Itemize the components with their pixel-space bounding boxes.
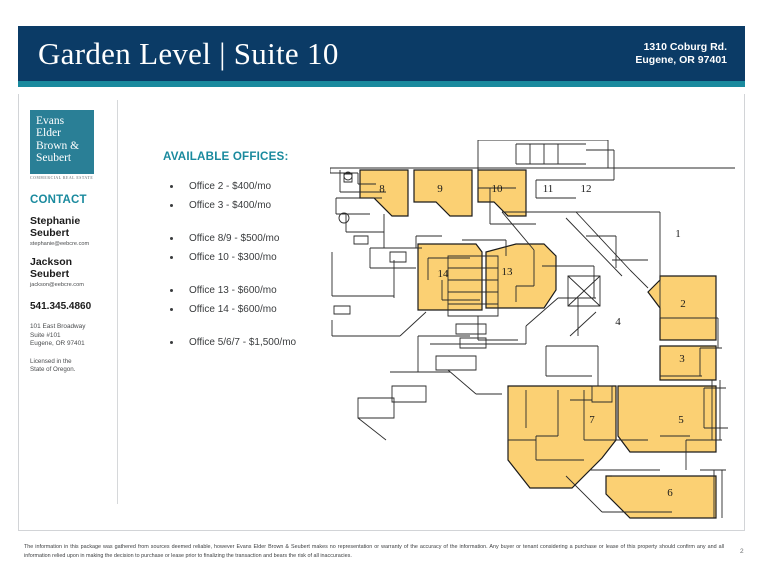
- header-accent-bar: [18, 81, 745, 87]
- room-label-1: 1: [675, 228, 681, 240]
- office-address-line2: Suite #101: [30, 332, 114, 341]
- contact-name-stephanie-line1: Stephanie: [30, 215, 114, 227]
- logo-line-2: Elder: [36, 127, 94, 139]
- floor-plan-svg: 8910111211413243576: [330, 140, 735, 525]
- property-address: 1310 Coburg Rd. Eugene, OR 97401: [635, 41, 743, 67]
- room-label-13: 13: [502, 266, 514, 278]
- room-label-12: 12: [581, 183, 592, 195]
- floor-plan-room-13[interactable]: [486, 244, 556, 308]
- footer-disclaimer: The information in this package was gath…: [24, 543, 724, 562]
- logo-line-4: Seubert: [36, 152, 94, 164]
- office-address: 101 East Broadway Suite #101 Eugene, OR …: [30, 323, 114, 349]
- room-label-14: 14: [438, 268, 450, 280]
- contact-email-jackson[interactable]: jackson@eebcre.com: [30, 282, 114, 288]
- logo-line-3: Brown &: [36, 140, 94, 152]
- office-group: Office 5/6/7 - $1,500/mo: [163, 333, 333, 352]
- contact-phone[interactable]: 541.345.4860: [30, 301, 114, 312]
- contact-heading: CONTACT: [30, 194, 114, 206]
- room-label-4: 4: [615, 316, 621, 328]
- logo-line-1: Evans: [36, 115, 94, 127]
- office-list-item: Office 5/6/7 - $1,500/mo: [163, 333, 333, 352]
- floor-plan-room-9[interactable]: [414, 170, 472, 216]
- floor-plan-room-7[interactable]: [508, 386, 616, 488]
- license-note-line1: Licensed in the: [30, 358, 114, 366]
- office-group: Office 13 - $600/moOffice 14 - $600/mo: [163, 281, 333, 319]
- room-label-3: 3: [679, 353, 685, 365]
- available-offices-heading: AVAILABLE OFFICES:: [163, 150, 333, 163]
- page-number: 2: [740, 548, 744, 555]
- contact-name-stephanie: Stephanie Seubert: [30, 215, 114, 239]
- license-note: Licensed in the State of Oregon.: [30, 358, 114, 375]
- office-list-item: Office 10 - $300/mo: [163, 248, 333, 267]
- page-title: Garden Level | Suite 10: [38, 36, 339, 72]
- office-list-item: Office 3 - $400/mo: [163, 196, 333, 215]
- brochure-page: Garden Level | Suite 10 1310 Coburg Rd. …: [0, 0, 761, 588]
- property-address-line1: 1310 Coburg Rd.: [635, 41, 727, 54]
- floor-plan-room-3[interactable]: [660, 346, 716, 380]
- room-label-8: 8: [379, 183, 385, 195]
- room-label-9: 9: [437, 183, 443, 195]
- office-address-line1: 101 East Broadway: [30, 323, 114, 332]
- room-label-10: 10: [492, 183, 504, 195]
- floor-plan-room-5[interactable]: [618, 386, 716, 452]
- office-group: Office 2 - $400/moOffice 3 - $400/mo: [163, 177, 333, 215]
- contact-name-jackson-line1: Jackson: [30, 256, 114, 268]
- contact-name-jackson: Jackson Seubert: [30, 256, 114, 280]
- contact-name-stephanie-line2: Seubert: [30, 227, 114, 239]
- contact-email-stephanie[interactable]: stephanie@eebcre.com: [30, 241, 114, 247]
- room-label-2: 2: [680, 298, 686, 310]
- office-list-item: Office 8/9 - $500/mo: [163, 229, 333, 248]
- floor-plan: 8910111211413243576: [330, 140, 735, 525]
- room-label-11: 11: [543, 183, 554, 195]
- contact-name-jackson-line2: Seubert: [30, 268, 114, 280]
- sidebar: Evans Elder Brown & Seubert COMMERCIAL R…: [30, 110, 114, 375]
- room-label-6: 6: [667, 487, 673, 499]
- office-address-line3: Eugene, OR 97401: [30, 340, 114, 349]
- company-logo: Evans Elder Brown & Seubert: [30, 110, 94, 174]
- available-offices-list: Office 2 - $400/moOffice 3 - $400/moOffi…: [163, 177, 333, 352]
- available-offices-panel: AVAILABLE OFFICES: Office 2 - $400/moOff…: [163, 150, 333, 352]
- room-label-7: 7: [589, 414, 595, 426]
- license-note-line2: State of Oregon.: [30, 366, 114, 374]
- sidebar-divider: [117, 100, 118, 504]
- office-group: Office 8/9 - $500/moOffice 10 - $300/mo: [163, 229, 333, 267]
- office-list-item: Office 13 - $600/mo: [163, 281, 333, 300]
- logo-tagline: COMMERCIAL REAL ESTATE: [30, 176, 114, 180]
- office-list-item: Office 2 - $400/mo: [163, 177, 333, 196]
- room-label-5: 5: [678, 414, 684, 426]
- office-list-item: Office 14 - $600/mo: [163, 300, 333, 319]
- property-address-line2: Eugene, OR 97401: [635, 54, 727, 67]
